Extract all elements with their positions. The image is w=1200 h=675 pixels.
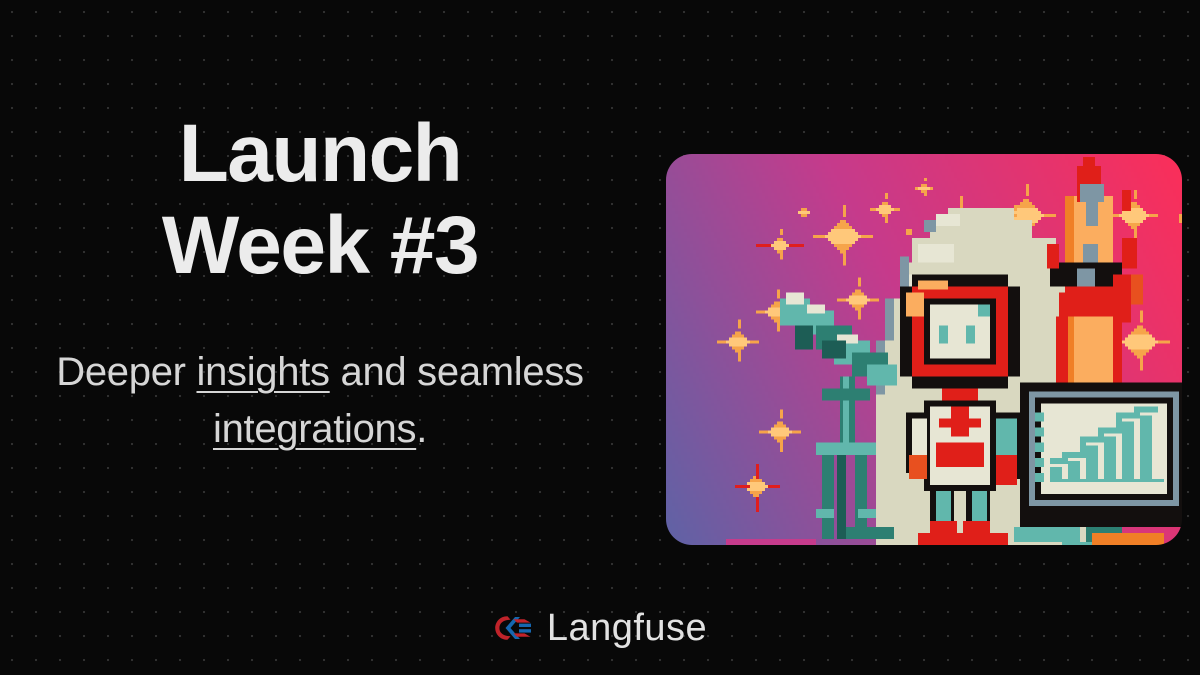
hero-subtitle-text: and seamless [330,350,584,394]
brand-footer: Langfuse [0,600,1200,656]
pixel-art-illustration [666,154,1182,545]
hero-subtitle: Deeper insights and seamless integration… [50,344,590,458]
hero-copy-block: Launch Week #3 Deeper insights and seaml… [0,0,640,570]
langfuse-logo-icon [493,613,533,643]
launch-week-banner: Launch Week #3 Deeper insights and seaml… [0,0,1200,675]
hero-subtitle-highlight: insights [196,350,329,394]
brand-name: Langfuse [547,609,707,647]
hero-subtitle-text: . [416,407,427,451]
hero-subtitle-text: Deeper [56,350,196,394]
hero-subtitle-highlight: integrations [213,407,416,451]
page-title: Launch Week #3 [162,108,478,292]
hero-artwork-card [666,154,1182,545]
